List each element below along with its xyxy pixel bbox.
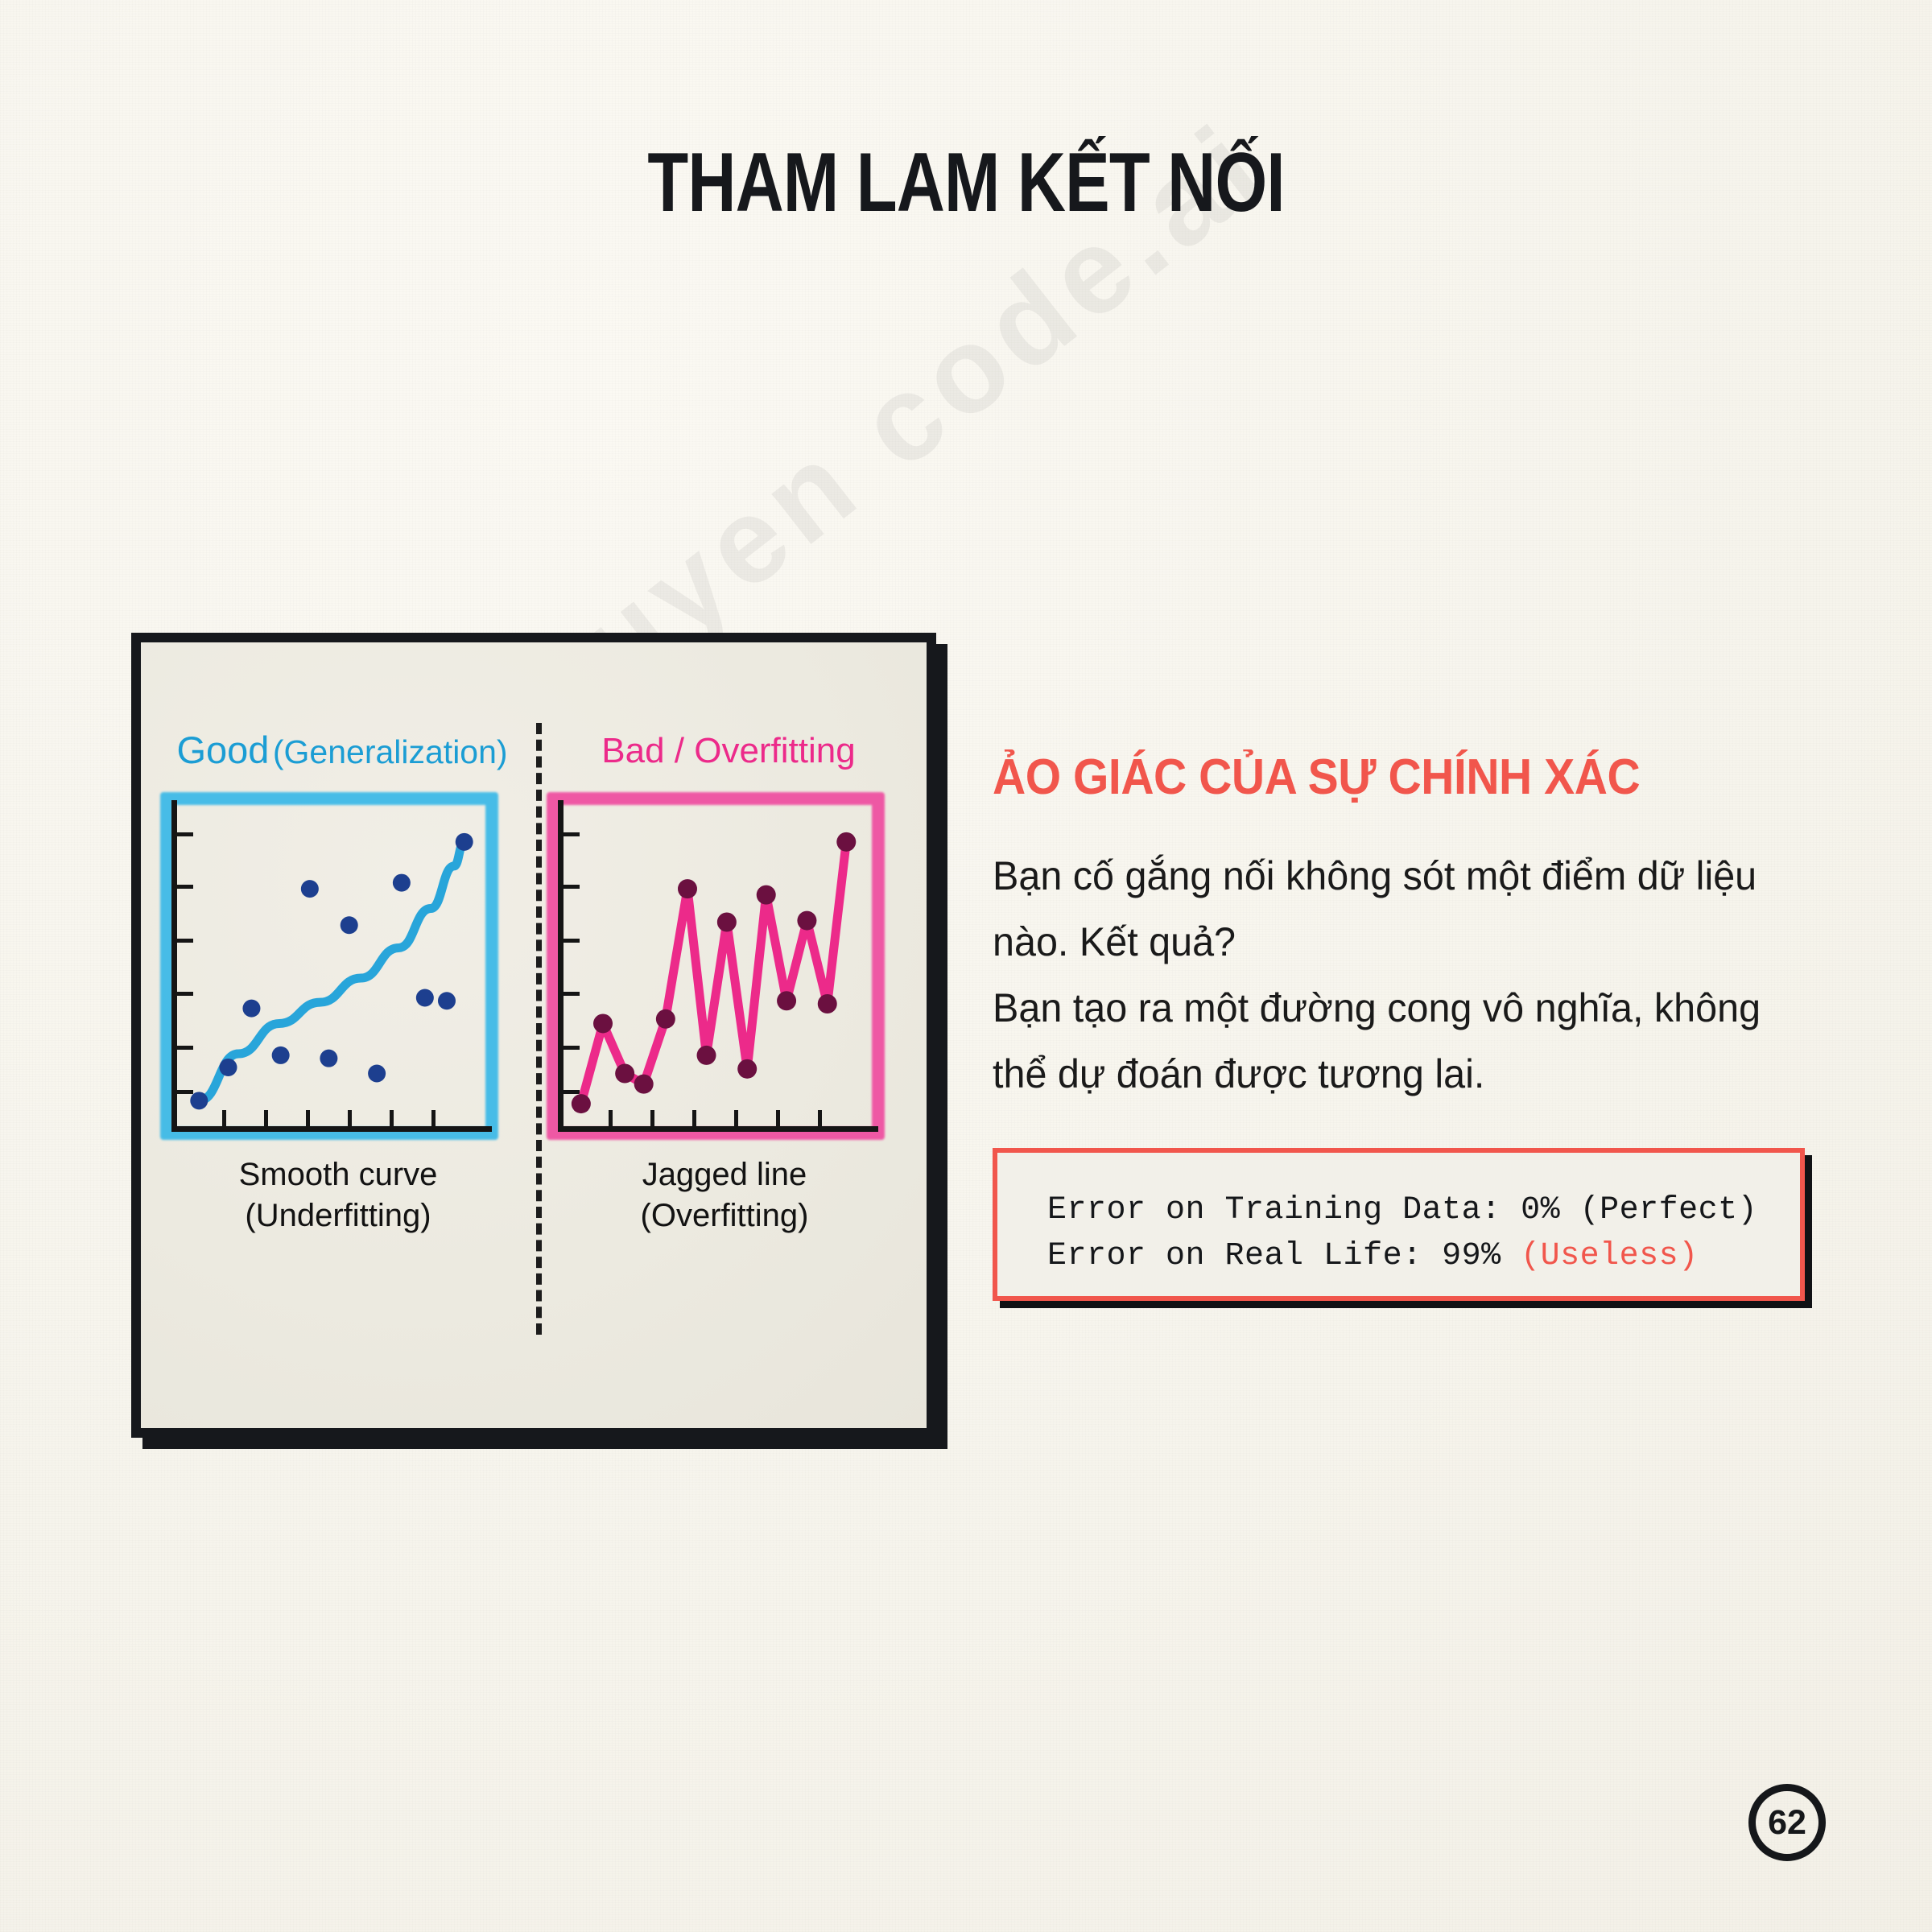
chart-good-generalization: [171, 800, 492, 1132]
jagged-point: [717, 912, 737, 931]
panel-title-good-main: Good: [176, 729, 269, 771]
body-paragraph: Bạn cố gắng nối không sót một điểm dữ li…: [993, 843, 1797, 1107]
panel-divider: [536, 723, 542, 1335]
scatter-point: [438, 992, 456, 1009]
jagged-point: [737, 1059, 757, 1079]
scatter-point: [301, 880, 319, 898]
code-line-real-life-error: Error on Real Life: 99% (Useless): [1047, 1234, 1800, 1280]
scatter-point: [242, 1000, 260, 1018]
scatter-point: [219, 1059, 237, 1076]
panel-title-good-sub: (Generalization): [273, 733, 508, 770]
code-line-real-life-prefix: Error on Real Life: 99%: [1047, 1238, 1521, 1274]
panel-title-bad: Bad / Overfitting: [551, 731, 906, 771]
jagged-point: [593, 1013, 613, 1033]
page-number-badge: 62: [1748, 1784, 1826, 1861]
content-column: ẢO GIÁC CỦA SỰ CHÍNH XÁC Bạn cố gắng nối…: [993, 749, 1822, 1107]
jagged-point: [818, 994, 837, 1013]
scatter-point: [368, 1064, 386, 1082]
chart-bad-overfitting: [558, 800, 878, 1132]
jagged-point: [615, 1063, 634, 1083]
page-title: THAM LAM KẾT NỐI: [193, 135, 1739, 231]
caption-jagged-line: Jagged line (Overfitting): [551, 1154, 898, 1236]
scatter-point: [341, 916, 358, 934]
jagged-point: [634, 1075, 654, 1094]
scatter-point: [393, 874, 411, 892]
jagged-point: [678, 879, 697, 898]
scatter-point: [190, 1092, 208, 1109]
jagged-point: [697, 1046, 716, 1065]
panel-title-good: Good (Generalization): [165, 728, 519, 772]
scatter-point: [320, 1050, 337, 1067]
code-useless-tag: (Useless): [1521, 1238, 1699, 1274]
error-code-box: Error on Training Data: 0% (Perfect) Err…: [993, 1148, 1805, 1301]
code-line-training-error: Error on Training Data: 0% (Perfect): [1047, 1188, 1800, 1234]
scatter-point: [272, 1046, 290, 1064]
jagged-point: [836, 832, 856, 852]
illustration-card: Good (Generalization) Bad / Overfitting: [131, 633, 936, 1438]
overfit-jagged-line: [581, 842, 846, 1104]
scatter-point: [456, 833, 473, 851]
scatter-point: [416, 989, 434, 1006]
jagged-point: [757, 885, 776, 905]
jagged-point: [777, 991, 796, 1010]
jagged-point: [656, 1009, 675, 1029]
section-heading: ẢO GIÁC CỦA SỰ CHÍNH XÁC: [993, 749, 1756, 806]
illustration-canvas: Good (Generalization) Bad / Overfitting: [141, 642, 927, 1428]
caption-smooth-curve: Smooth curve (Underfitting): [165, 1154, 511, 1236]
jagged-point: [572, 1094, 591, 1113]
jagged-point: [797, 911, 816, 931]
